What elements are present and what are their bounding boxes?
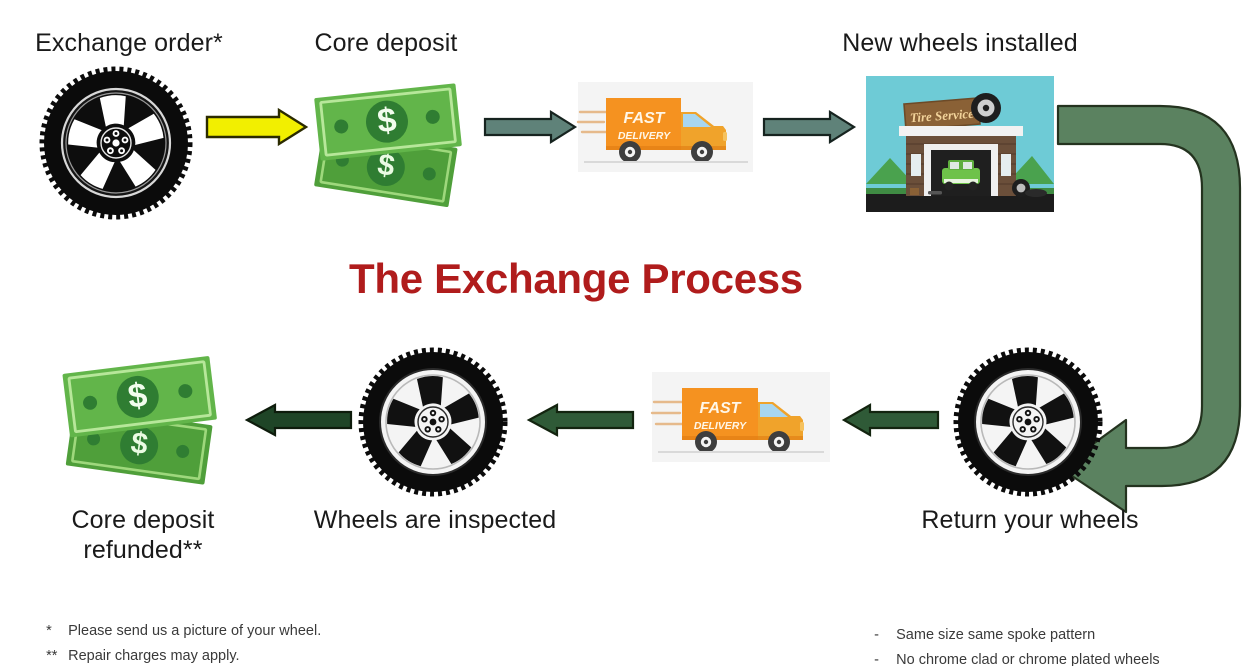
step-label-wheels-are-inspected: Wheels are inspected	[295, 505, 575, 535]
exchange-process-diagram: Exchange order* Core deposit New wheels …	[0, 0, 1250, 666]
svg-text:FAST: FAST	[700, 400, 742, 417]
footnote-marker: **	[46, 644, 68, 666]
step-label-core-deposit: Core deposit	[272, 28, 500, 58]
svg-text:$: $	[375, 101, 398, 141]
black-alloy-wheel-icon	[36, 68, 196, 218]
footnote-text: No chrome clad or chrome plated wheels	[896, 652, 1160, 666]
tire-service-garage-icon: Tire Service	[866, 76, 1054, 212]
cash-money-icon: $ $	[308, 76, 480, 206]
svg-text:DELIVERY: DELIVERY	[694, 420, 747, 432]
footnote-left-2: **Repair charges may apply.	[30, 619, 240, 666]
step-label-core-deposit-refunded: Core deposit refunded**	[18, 505, 268, 565]
footnote-marker: -	[874, 648, 896, 666]
arrow-order-to-deposit	[205, 108, 310, 146]
footnote-text: Repair charges may apply.	[68, 648, 239, 664]
silver-alloy-wheel-icon-return	[950, 348, 1105, 496]
step-label-return-your-wheels: Return your wheels	[880, 505, 1180, 535]
step-label-new-wheels-installed: New wheels installed	[805, 28, 1115, 58]
step-label-exchange-order: Exchange order*	[0, 28, 258, 58]
footnote-right-2: -No chrome clad or chrome plated wheels	[858, 623, 1160, 666]
arrow-return-to-truck	[840, 403, 940, 437]
arrow-deposit-to-truck	[483, 110, 578, 144]
page-title: The Exchange Process	[349, 255, 803, 303]
silver-alloy-wheel-icon-inspected	[357, 348, 509, 496]
fast-delivery-truck-icon-bottom: FAST DELIVERY	[652, 372, 830, 462]
svg-text:FAST: FAST	[624, 110, 666, 127]
arrow-truck-to-garage	[762, 110, 857, 144]
cash-money-icon-refund: $ $	[55, 352, 237, 484]
arrow-inspect-to-refund	[243, 403, 353, 437]
fast-delivery-truck-icon-top: FAST DELIVERY	[578, 82, 753, 172]
svg-text:DELIVERY: DELIVERY	[618, 130, 671, 142]
arrow-truck-to-inspect	[525, 403, 635, 437]
